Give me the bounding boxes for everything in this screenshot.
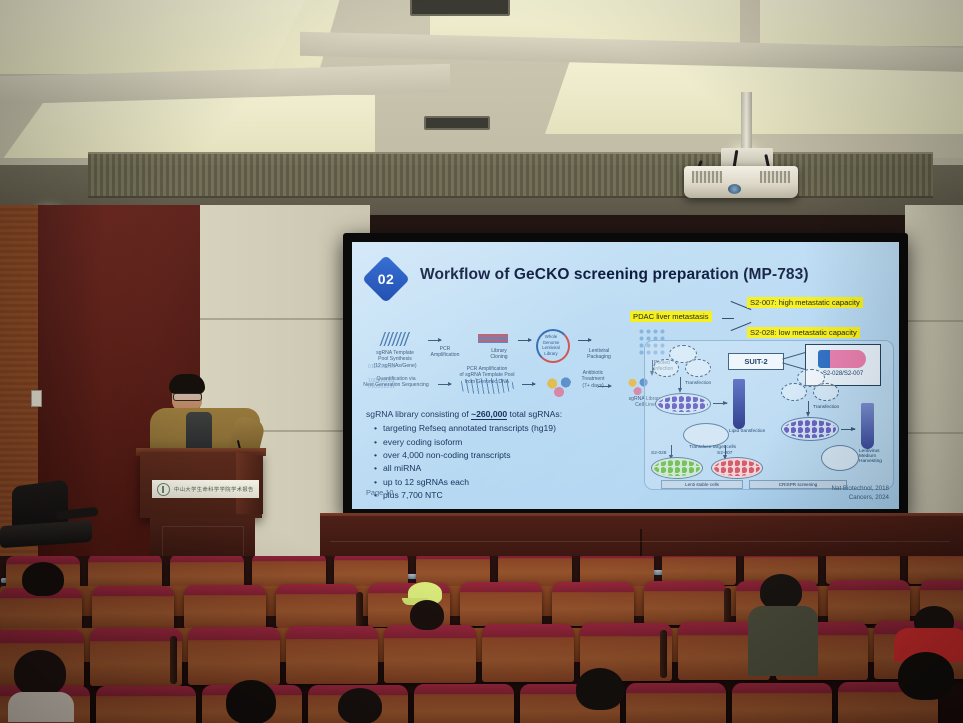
lentivirus-dish-icon: [821, 445, 859, 471]
plasmid-icon: [653, 359, 679, 377]
stage-cabinet-molding: [330, 541, 950, 542]
transfection-label: Transfection: [813, 405, 839, 410]
callout-pdac-liver-metastasis: PDAC liver metastasis: [630, 311, 712, 322]
slide-number-badge: 02: [362, 255, 410, 303]
callout-s2-028-low: S2-028: low metastatic capacity: [747, 327, 860, 338]
seat: [626, 683, 726, 723]
figure-arrow-down: [671, 445, 672, 456]
plasmid-icon: [685, 359, 711, 377]
ceiling-light-panel: [0, 0, 305, 74]
wall-grille-band: [88, 152, 933, 198]
armrest: [724, 588, 731, 624]
callout-s2-007-high: S2-007: high metastatic capacity: [747, 297, 863, 308]
podium-sign-text: 中山大学生命科学学院学术报告: [174, 485, 254, 493]
seat: [276, 584, 358, 628]
transfection-arrow: [808, 401, 809, 413]
armrest: [170, 636, 177, 684]
wall-switch[interactable]: [31, 390, 42, 407]
bullet-marker: •: [374, 436, 377, 449]
seat: [828, 580, 910, 624]
bullet-text: over 4,000 non-coding transcripts: [383, 449, 511, 462]
podium-sign: 中山大学生命科学学院学术报告: [152, 480, 259, 498]
armrest: [660, 630, 667, 678]
sgrna-library-bullets: sgRNA library consisting of ~260,000 tot…: [366, 408, 666, 502]
list-item: • all miRNA: [366, 462, 666, 475]
seat: [384, 625, 476, 683]
workflow-arrow: [598, 386, 611, 387]
bar-left-label: Lenti stable cells: [661, 480, 743, 489]
projector-vent-icon: [692, 171, 722, 183]
workflow-arrow: [428, 340, 441, 341]
seat: [414, 684, 514, 723]
stage-chair: [0, 483, 96, 563]
wall-panel-seam: [905, 320, 963, 322]
workflow-label-3: WholeGenomeLentiviralLibrary: [524, 334, 578, 356]
glasses-icon: [173, 393, 202, 401]
ceiling-light-panel: [760, 0, 963, 46]
lentivirus-label: LentivirusMediumHarvesting: [859, 449, 882, 464]
sgrna-template-icon: [379, 332, 410, 346]
seat: [482, 624, 574, 682]
figure-connector: [782, 351, 807, 359]
university-emblem-icon: [157, 483, 170, 496]
petri-dish-icon: [781, 417, 839, 441]
bullet-text: every coding isoform: [383, 436, 462, 449]
list-item: • every coding isoform: [366, 436, 666, 449]
ceiling-light-panel: [545, 60, 963, 134]
culture-flask-icon: [818, 350, 866, 368]
bullet-marker: •: [374, 449, 377, 462]
seat: [552, 582, 634, 626]
callout-connector: [722, 318, 734, 319]
plasmid-icon: [813, 383, 839, 401]
list-item: • over 4,000 non-coding transcripts: [366, 449, 666, 462]
workflow-arrow: [438, 384, 451, 385]
projector-vent-icon: [760, 171, 790, 183]
petri-dish-s2-007-icon: [711, 457, 763, 479]
experiment-figure-panel: SUIT-2 S2-028/S2-007 Transfection: [644, 340, 894, 490]
transduce-label: Transduce target cells: [689, 445, 736, 450]
projector-mount-pole: [741, 92, 752, 154]
citation-1: Nat Biotechnol, 2018: [832, 485, 889, 494]
gel-band-icon: [478, 334, 508, 343]
bullet-marker: •: [374, 422, 377, 435]
seat: [88, 556, 162, 590]
dish-left-label: S2-028: [651, 451, 666, 456]
workflow-arrow: [578, 340, 591, 341]
workflow-label-2: LibraryCloning: [472, 348, 526, 361]
seat: [460, 582, 542, 626]
bullet-text: targeting Refseq annotated transcripts (…: [383, 422, 556, 435]
seat: [184, 585, 266, 629]
list-item: • up to 12 sgRNAs each: [366, 476, 666, 489]
petri-dish-s2-028-icon: [651, 457, 703, 479]
wall-panel-seam: [905, 432, 963, 434]
lipid-transfection-dish-icon: [683, 423, 729, 447]
slide-content: 02 Workflow of GeCKO screening preparati…: [352, 242, 899, 509]
ceiling-vent-icon: [424, 116, 490, 130]
seat: [92, 586, 174, 630]
petri-dish-icon: [655, 393, 711, 415]
ceiling: [0, 0, 963, 215]
ceiling-vent-icon: [410, 0, 510, 16]
cell-line-box: SUIT-2: [728, 353, 784, 370]
workflow-arrow: [522, 384, 535, 385]
slide-citations: Nat Biotechnol, 2018 Cancers, 2024: [832, 485, 889, 503]
seat: [90, 628, 182, 686]
plasmid-icon: [781, 383, 807, 401]
bullets-heading: sgRNA library consisting of ~260,000 tot…: [366, 408, 666, 421]
presentation-screen: 02 Workflow of GeCKO screening preparati…: [343, 233, 908, 518]
list-item: • plus 7,700 NTC: [366, 489, 666, 502]
bullet-marker: •: [374, 462, 377, 475]
seat: [732, 683, 832, 723]
slide-badge-label: 02: [369, 262, 403, 296]
figure-arrow: [713, 403, 727, 404]
projector-lens-icon: [728, 184, 741, 194]
armrest: [356, 592, 363, 628]
dish-right-label: S2-007: [717, 451, 732, 456]
speaker-hair: [169, 374, 205, 394]
speaker-person: [150, 376, 260, 456]
workflow-label-6: PCR Amplificationof sgRNA Template Poolf…: [456, 366, 518, 385]
figure-arrow: [841, 429, 855, 430]
seat: [286, 626, 378, 684]
citation-2: Cancers, 2024: [832, 494, 889, 503]
workflow-label-1: PCRAmplification: [418, 346, 472, 359]
workflow-label-5: Quantification viaNext Generation Sequen…: [360, 376, 432, 389]
bullet-text: all miRNA: [383, 462, 421, 475]
centrifuge-tube-icon: [733, 379, 745, 429]
seat: [96, 686, 196, 723]
slide-title: Workflow of GeCKO screening preparation …: [420, 266, 890, 284]
bullet-text: up to 12 sgRNAs each: [383, 476, 469, 489]
centrifuge-tube-icon: [861, 403, 874, 449]
lecture-hall-photo: 02 Workflow of GeCKO screening preparati…: [0, 0, 963, 723]
seat: [644, 581, 726, 625]
bullet-marker: •: [374, 476, 377, 489]
ceiling-projector: [684, 166, 798, 198]
transfection-label: Transfection: [685, 381, 711, 386]
lipid-label: Lipid transfection: [729, 429, 765, 434]
transfection-arrow: [680, 377, 681, 389]
audience-seating: [0, 556, 963, 723]
workflow-label-4: LentiviralPackaging: [572, 348, 626, 361]
slide-page-number: Page 10: [366, 488, 394, 497]
seat: [188, 627, 280, 685]
list-item: • targeting Refseq annotated transcripts…: [366, 422, 666, 435]
